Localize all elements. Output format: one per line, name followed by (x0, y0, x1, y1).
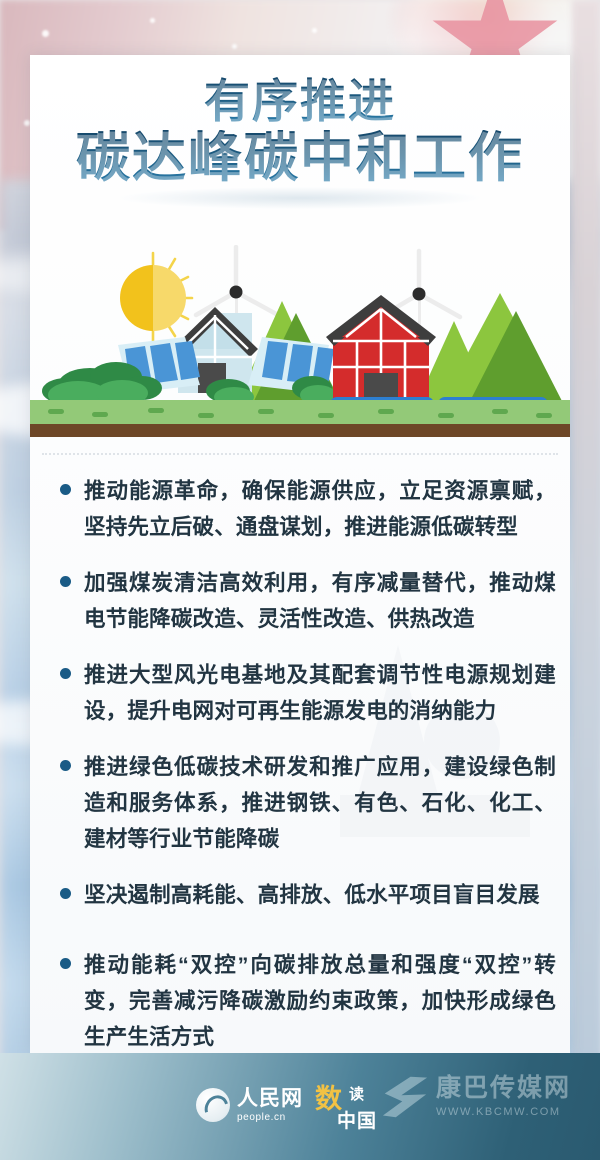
list-item-text: 坚决遏制高耗能、高排放、低水平项目盲目发展 (84, 877, 540, 913)
page-title: 有序推进 碳达峰碳中和工作 (30, 77, 570, 187)
shudu-char-2: 读 (349, 1083, 364, 1104)
bullet-list: 推动能源革命，确保能源供应，立足资源禀赋，坚持先立后破、通盘谋划，推进能源低碳转… (50, 473, 556, 1075)
people-cn-logo[interactable]: 人民网 people.cn (196, 1088, 303, 1123)
title-shadow (120, 187, 480, 209)
green-energy-village-illustration (30, 245, 570, 445)
kbcmw-name: 康巴传媒网 (436, 1076, 571, 1101)
sun-icon (120, 253, 192, 343)
bullet-dot-icon (60, 888, 71, 899)
background-right-strip (572, 0, 600, 1160)
shudu-char-3: 中国 (337, 1106, 377, 1133)
list-item: 推进大型风光电基地及其配套调节性电源规划建设，提升电网对可再生能源发电的消纳能力 (50, 657, 556, 729)
list-item-text: 推动能耗“双控”向碳排放总量和强度“双控”转变，完善减污降碳激励约束政策，加快形… (84, 947, 556, 1055)
bullet-dot-icon (60, 668, 71, 679)
kbcmw-watermark: 康巴传媒网 WWW.KBCMW.COM (382, 1075, 571, 1119)
list-item: 加强煤炭清洁高效利用，有序减量替代，推动煤电节能降碳改造、灵活性改造、供热改造 (50, 565, 556, 637)
kbcmw-url: WWW.KBCMW.COM (436, 1107, 571, 1118)
list-item: 推动能耗“双控”向碳排放总量和强度“双控”转变，完善减污降碳激励约束政策，加快形… (50, 947, 556, 1055)
kbcmw-text: 康巴传媒网 WWW.KBCMW.COM (436, 1076, 571, 1118)
list-item-text: 加强煤炭清洁高效利用，有序减量替代，推动煤电节能降碳改造、灵活性改造、供热改造 (84, 565, 556, 637)
brand-group: 人民网 people.cn 数 读 中国 (196, 1079, 393, 1131)
section-divider (42, 453, 558, 455)
kbcmw-mark-icon (382, 1075, 428, 1119)
ground-strip (30, 400, 570, 437)
bullet-dot-icon (60, 576, 71, 587)
list-item-text: 推进大型风光电基地及其配套调节性电源规划建设，提升电网对可再生能源发电的消纳能力 (84, 657, 556, 729)
bullet-dot-icon (60, 958, 71, 969)
list-item-text: 推动能源革命，确保能源供应，立足资源禀赋，坚持先立后破、通盘谋划，推进能源低碳转… (84, 473, 556, 545)
list-item-text: 推进绿色低碳技术研发和推广应用，建设绿色制造和服务体系，推进钢铁、有色、石化、化… (84, 749, 556, 857)
list-item: 推动能源革命，确保能源供应，立足资源禀赋，坚持先立后破、通盘谋划，推进能源低碳转… (50, 473, 556, 545)
poster-card: 有序推进 碳达峰碳中和工作 (30, 55, 570, 1053)
bullet-dot-icon (60, 484, 71, 495)
footer-bar: 人民网 people.cn 数 读 中国 康巴传媒网 WWW.KBCMW.COM (0, 1053, 600, 1160)
people-cn-domain: people.cn (237, 1113, 303, 1123)
people-cn-text: 人民网 people.cn (237, 1088, 303, 1123)
list-item: 推进绿色低碳技术研发和推广应用，建设绿色制造和服务体系，推进钢铁、有色、石化、化… (50, 749, 556, 857)
people-cn-label: 人民网 (237, 1088, 303, 1109)
list-item: 坚决遏制高耗能、高排放、低水平项目盲目发展 (50, 877, 556, 913)
globe-icon (196, 1088, 230, 1122)
bullet-dot-icon (60, 760, 71, 771)
title-line-2: 碳达峰碳中和工作 (30, 130, 570, 187)
title-line-1: 有序推进 (30, 77, 570, 126)
